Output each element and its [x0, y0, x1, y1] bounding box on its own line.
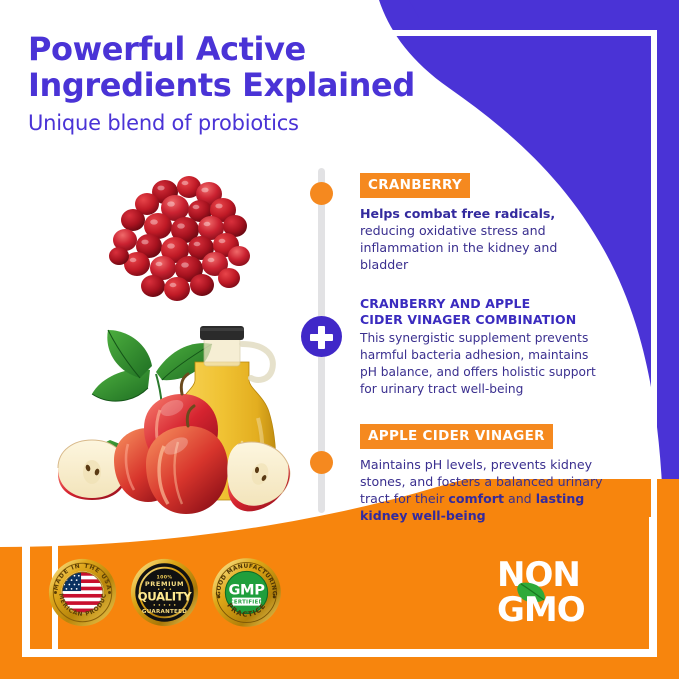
section-cranberry: CRANBERRY Helps combat free radicals, re…: [360, 173, 605, 274]
non-gmo-line-2: GMO: [497, 590, 585, 627]
section-apple-cider-vinager: APPLE CIDER VINAGER Maintains pH levels,…: [360, 424, 605, 525]
svg-text:GMP: GMP: [228, 582, 265, 599]
frame-line-top: [287, 30, 657, 36]
infographic-canvas: Powerful Active Ingredients Explained Un…: [0, 0, 679, 679]
section-combination-body: This synergistic supplement prevents har…: [360, 330, 605, 397]
section-combination: CRANBERRY AND APPLE CIDER VINAGER COMBIN…: [360, 296, 605, 398]
timeline-dot-apple-cider-vinager: [310, 451, 333, 474]
cranberry-image: [105, 168, 295, 318]
section-cranberry-body: Helps combat free radicals, reducing oxi…: [360, 205, 605, 274]
svg-text:GUARANTEED: GUARANTEED: [142, 609, 187, 615]
frame-line-left: [22, 537, 30, 657]
svg-text:QUALITY: QUALITY: [138, 590, 193, 604]
section-cranberry-body-rest: reducing oxidative stress and inflammati…: [360, 223, 557, 272]
plus-vertical-bar: [318, 326, 325, 349]
timeline-plus-icon: [301, 316, 342, 357]
frame-line-right: [651, 30, 657, 590]
frame-line-right-lower: [649, 517, 657, 657]
acv-body-part-2: and: [504, 491, 536, 506]
section-apple-cider-vinager-tag: APPLE CIDER VINAGER: [360, 424, 553, 449]
section-cranberry-tag: CRANBERRY: [360, 173, 470, 198]
badge-made-in-usa: MADE IN THE USA AMERICAN PRODUCT: [46, 556, 119, 629]
svg-text:PREMIUM: PREMIUM: [145, 580, 184, 588]
headline-line-1: Powerful Active: [28, 32, 498, 68]
page-title: Powerful Active Ingredients Explained: [28, 32, 498, 104]
header: Powerful Active Ingredients Explained Un…: [28, 32, 498, 136]
section-cranberry-body-lead: Helps combat free radicals,: [360, 206, 555, 221]
headline-line-2: Ingredients Explained: [28, 68, 498, 104]
non-gmo-logo: NON GMO: [495, 553, 631, 627]
apple-slice-right: [227, 442, 289, 511]
section-combination-title-line-2: CIDER VINAGER COMBINATION: [360, 312, 605, 328]
frame-line-bottom: [22, 649, 657, 657]
acv-body-bold-1: comfort: [448, 491, 504, 506]
section-combination-title: CRANBERRY AND APPLE CIDER VINAGER COMBIN…: [360, 296, 605, 327]
apple-cider-vinegar-image: [52, 322, 297, 527]
page-subtitle: Unique blend of probiotics: [28, 111, 498, 136]
badge-premium-quality: 100% PREMIUM QUALITY GUARANTEED: [128, 556, 201, 629]
section-apple-cider-vinager-body: Maintains pH levels, prevents kidney sto…: [360, 456, 605, 525]
svg-text:CERTIFIED: CERTIFIED: [230, 600, 264, 606]
timeline-dot-cranberry: [310, 182, 333, 205]
certification-badges: MADE IN THE USA AMERICAN PRODUCT 100% PR…: [46, 556, 283, 629]
badge-gmp-certified: GMP CERTIFIED GOOD MANUFACTURING PRACTIC…: [210, 556, 283, 629]
section-combination-title-line-1: CRANBERRY AND APPLE: [360, 296, 605, 312]
